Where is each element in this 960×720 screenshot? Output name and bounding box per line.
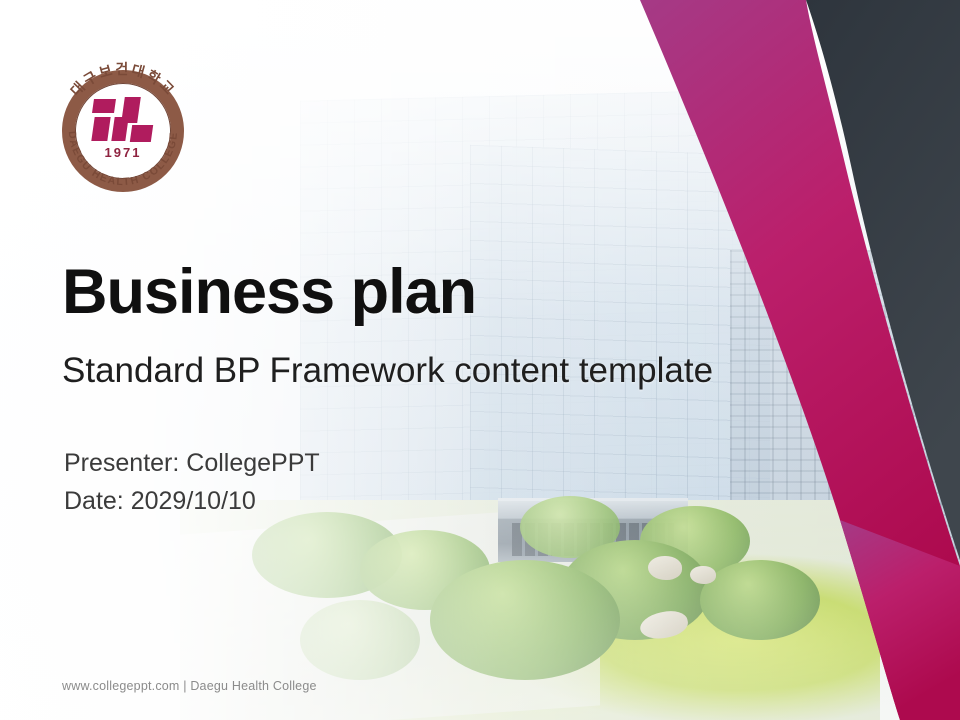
slide-footer: www.collegeppt.com | Daegu Health Colleg… <box>62 679 317 693</box>
logo-arc-top-label: 대구보건대학교 <box>68 61 178 100</box>
date-line: Date: 2029/10/10 <box>64 482 320 520</box>
presentation-title-slide: 대구보건대학교 DAEGU HEALTH COLLEGE 1971 Busine… <box>0 0 960 720</box>
slide-subtitle: Standard BP Framework content template <box>62 350 713 392</box>
college-logo: 대구보건대학교 DAEGU HEALTH COLLEGE 1971 <box>62 70 184 192</box>
presenter-line: Presenter: CollegePPT <box>64 444 320 482</box>
svg-text:대구보건대학교: 대구보건대학교 <box>68 61 178 100</box>
logo-emblem-icon <box>93 97 153 143</box>
logo-founding-year: 1971 <box>62 146 184 159</box>
slide-meta: Presenter: CollegePPT Date: 2029/10/10 <box>64 444 320 520</box>
slide-title: Business plan <box>62 261 476 324</box>
